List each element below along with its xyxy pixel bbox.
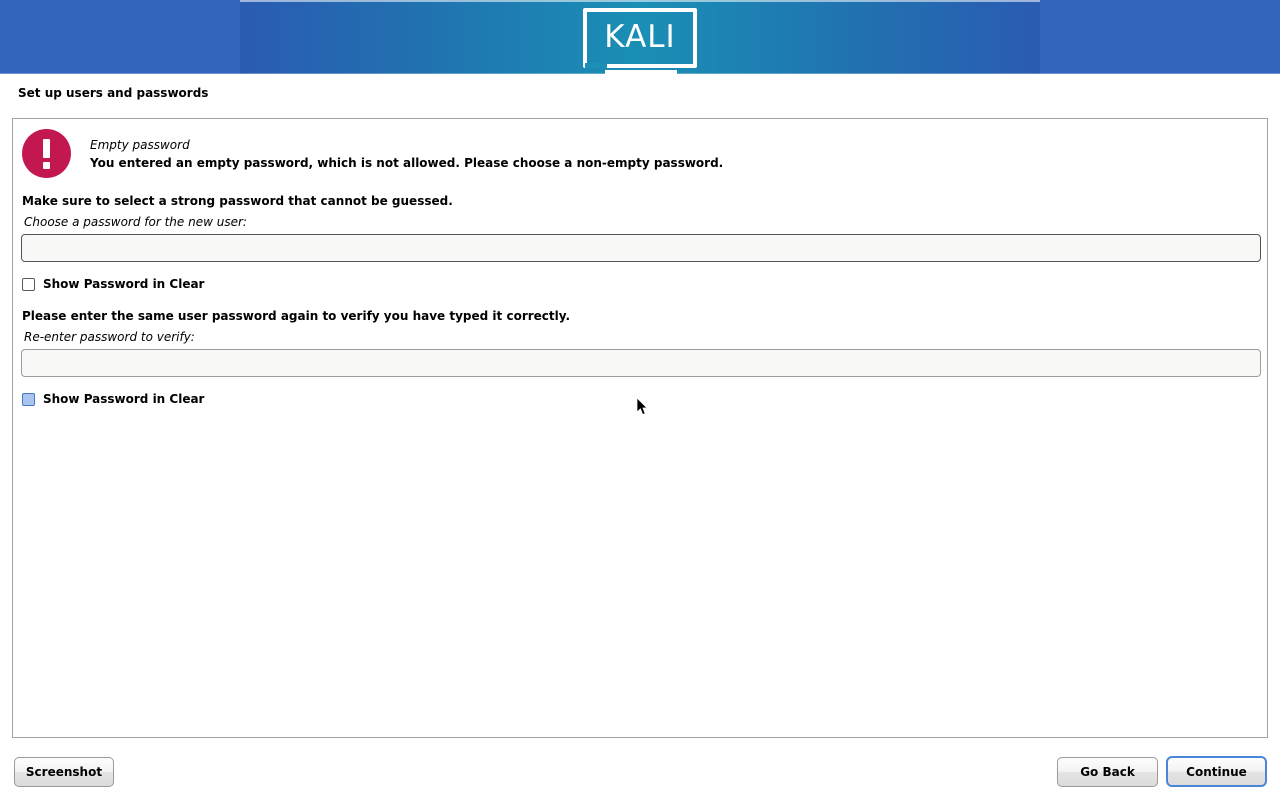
kali-banner: KALI (0, 0, 1280, 74)
show-password-in-clear-row-1[interactable]: Show Password in Clear (22, 277, 204, 291)
alert-description: You entered an empty password, which is … (90, 156, 723, 170)
show-password-checkbox-2[interactable] (22, 393, 35, 406)
password-input[interactable] (21, 234, 1261, 262)
screenshot-button[interactable]: Screenshot (14, 757, 114, 787)
kali-logo-text: KALI (583, 8, 697, 68)
show-password-checkbox-1[interactable] (22, 278, 35, 291)
verify-lead-text: Please enter the same user password agai… (22, 309, 570, 323)
show-password-in-clear-row-2[interactable]: Show Password in Clear (22, 392, 204, 406)
continue-button[interactable]: Continue (1166, 756, 1267, 787)
password-field-label: Choose a password for the new user: (24, 215, 247, 229)
verify-field-label: Re-enter password to verify: (24, 330, 195, 344)
content-panel: Empty password You entered an empty pass… (12, 118, 1268, 738)
banner-top-highlight (240, 0, 1040, 2)
alert-block: Empty password You entered an empty pass… (22, 129, 1252, 191)
exclamation-dot (43, 162, 50, 169)
page-title: Set up users and passwords (18, 86, 208, 100)
alert-title: Empty password (90, 138, 190, 152)
banner-bottom-divider (0, 73, 1280, 74)
show-password-label-2: Show Password in Clear (43, 392, 204, 406)
show-password-label-1: Show Password in Clear (43, 277, 204, 291)
verify-password-input[interactable] (21, 349, 1261, 377)
password-lead-text: Make sure to select a strong password th… (22, 194, 453, 208)
exclamation-bar (43, 139, 50, 158)
error-exclamation-icon (22, 129, 71, 178)
go-back-button[interactable]: Go Back (1057, 757, 1158, 787)
kali-logo: KALI (583, 8, 697, 68)
